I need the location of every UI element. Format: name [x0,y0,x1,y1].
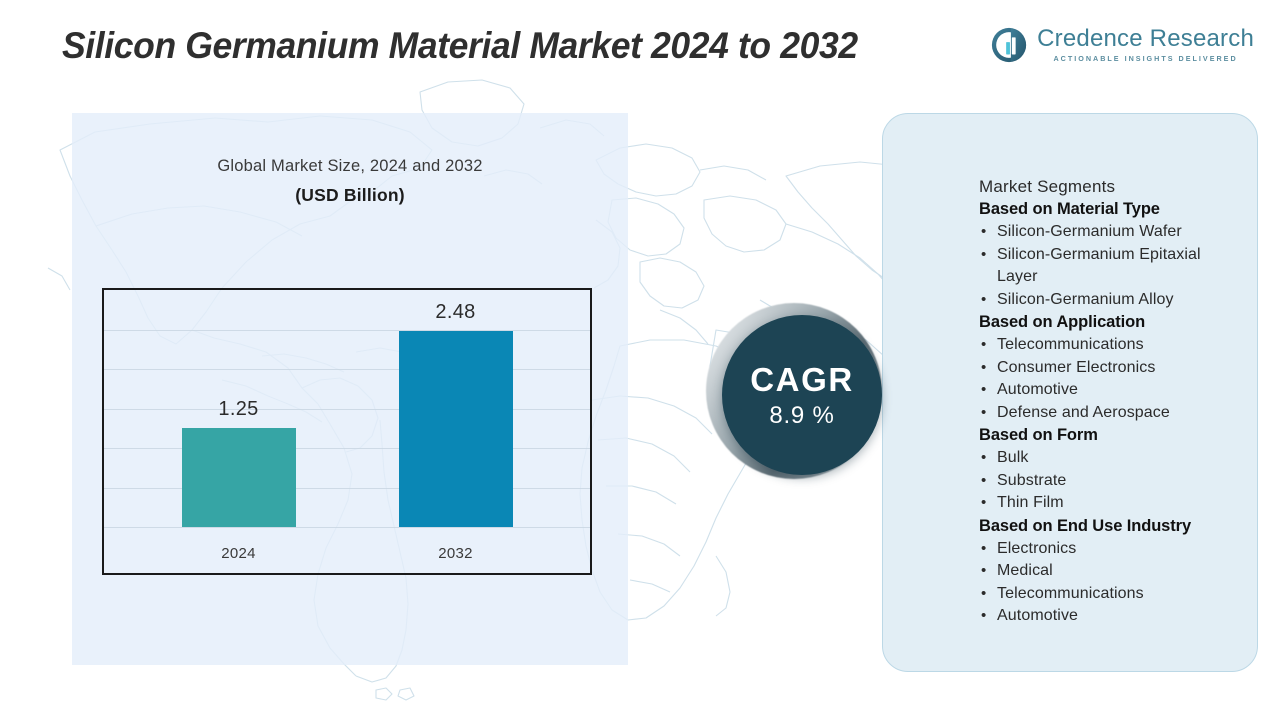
cagr-value: 8.9 % [769,404,834,428]
segment-list-item: Bulk [979,447,1241,470]
segment-list-item: Automotive [979,379,1241,402]
cagr-badge: CAGR 8.9 % [716,311,888,483]
segment-list-item: Thin Film [979,492,1241,515]
bar-chart: 1.25 2024 2.48 2032 [102,288,592,575]
infographic-canvas: Silicon Germanium Material Market 2024 t… [0,0,1280,720]
chart-plot-area: 1.25 2024 2.48 2032 [104,290,590,527]
segment-list-item: Telecommunications [979,583,1241,606]
segment-list-item: Silicon-Germanium Wafer [979,221,1241,244]
logo-tagline: Actionable Insights Delivered [1037,55,1254,62]
chart-panel: Global Market Size, 2024 and 2032 (USD B… [72,113,628,665]
segment-group-heading: Based on Material Type [979,198,1241,221]
segment-group-heading: Based on Application [979,311,1241,334]
segments-title: Market Segments [979,176,1241,197]
segments-list: Based on Material TypeSilicon-Germanium … [979,198,1241,628]
segment-list-item: Substrate [979,470,1241,493]
segment-group-heading: Based on End Use Industry [979,515,1241,538]
bar-value-2032: 2.48 [435,301,475,324]
bar-label-2024: 2024 [221,545,256,562]
bar-group-2032: 2.48 2032 [391,290,521,527]
segment-list-item: Medical [979,560,1241,583]
chart-heading: Global Market Size, 2024 and 2032 (USD B… [72,157,628,206]
bar-label-2032: 2032 [438,545,473,562]
logo-text: Credence Research Actionable Insights De… [1037,27,1254,62]
gridline [104,527,590,528]
segment-list-item: Electronics [979,538,1241,561]
page-title: Silicon Germanium Material Market 2024 t… [62,22,926,70]
segment-list-item: Defense and Aerospace [979,402,1241,425]
cagr-label: CAGR [750,363,854,396]
segment-list-item: Automotive [979,605,1241,628]
bar-group-2024: 1.25 2024 [174,290,304,527]
circle-bar-chart-icon [990,26,1028,64]
bar-value-2024: 1.25 [218,398,258,421]
brand-logo: Credence Research Actionable Insights De… [990,26,1254,64]
market-segments-panel: Market Segments Based on Material TypeSi… [882,113,1258,672]
segment-list-item: Silicon-Germanium Epitaxial Layer [979,244,1241,289]
segment-list-item: Silicon-Germanium Alloy [979,289,1241,312]
segment-list-item: Consumer Electronics [979,357,1241,380]
bar-rect-2024 [182,428,296,527]
logo-brand-name: Credence Research [1037,27,1254,51]
chart-unit-label: (USD Billion) [72,185,628,206]
bar-rect-2032 [399,331,513,527]
segment-group-heading: Based on Form [979,424,1241,447]
segment-list-item: Telecommunications [979,334,1241,357]
chart-title: Global Market Size, 2024 and 2032 [72,157,628,176]
cagr-circle: CAGR 8.9 % [722,315,882,475]
